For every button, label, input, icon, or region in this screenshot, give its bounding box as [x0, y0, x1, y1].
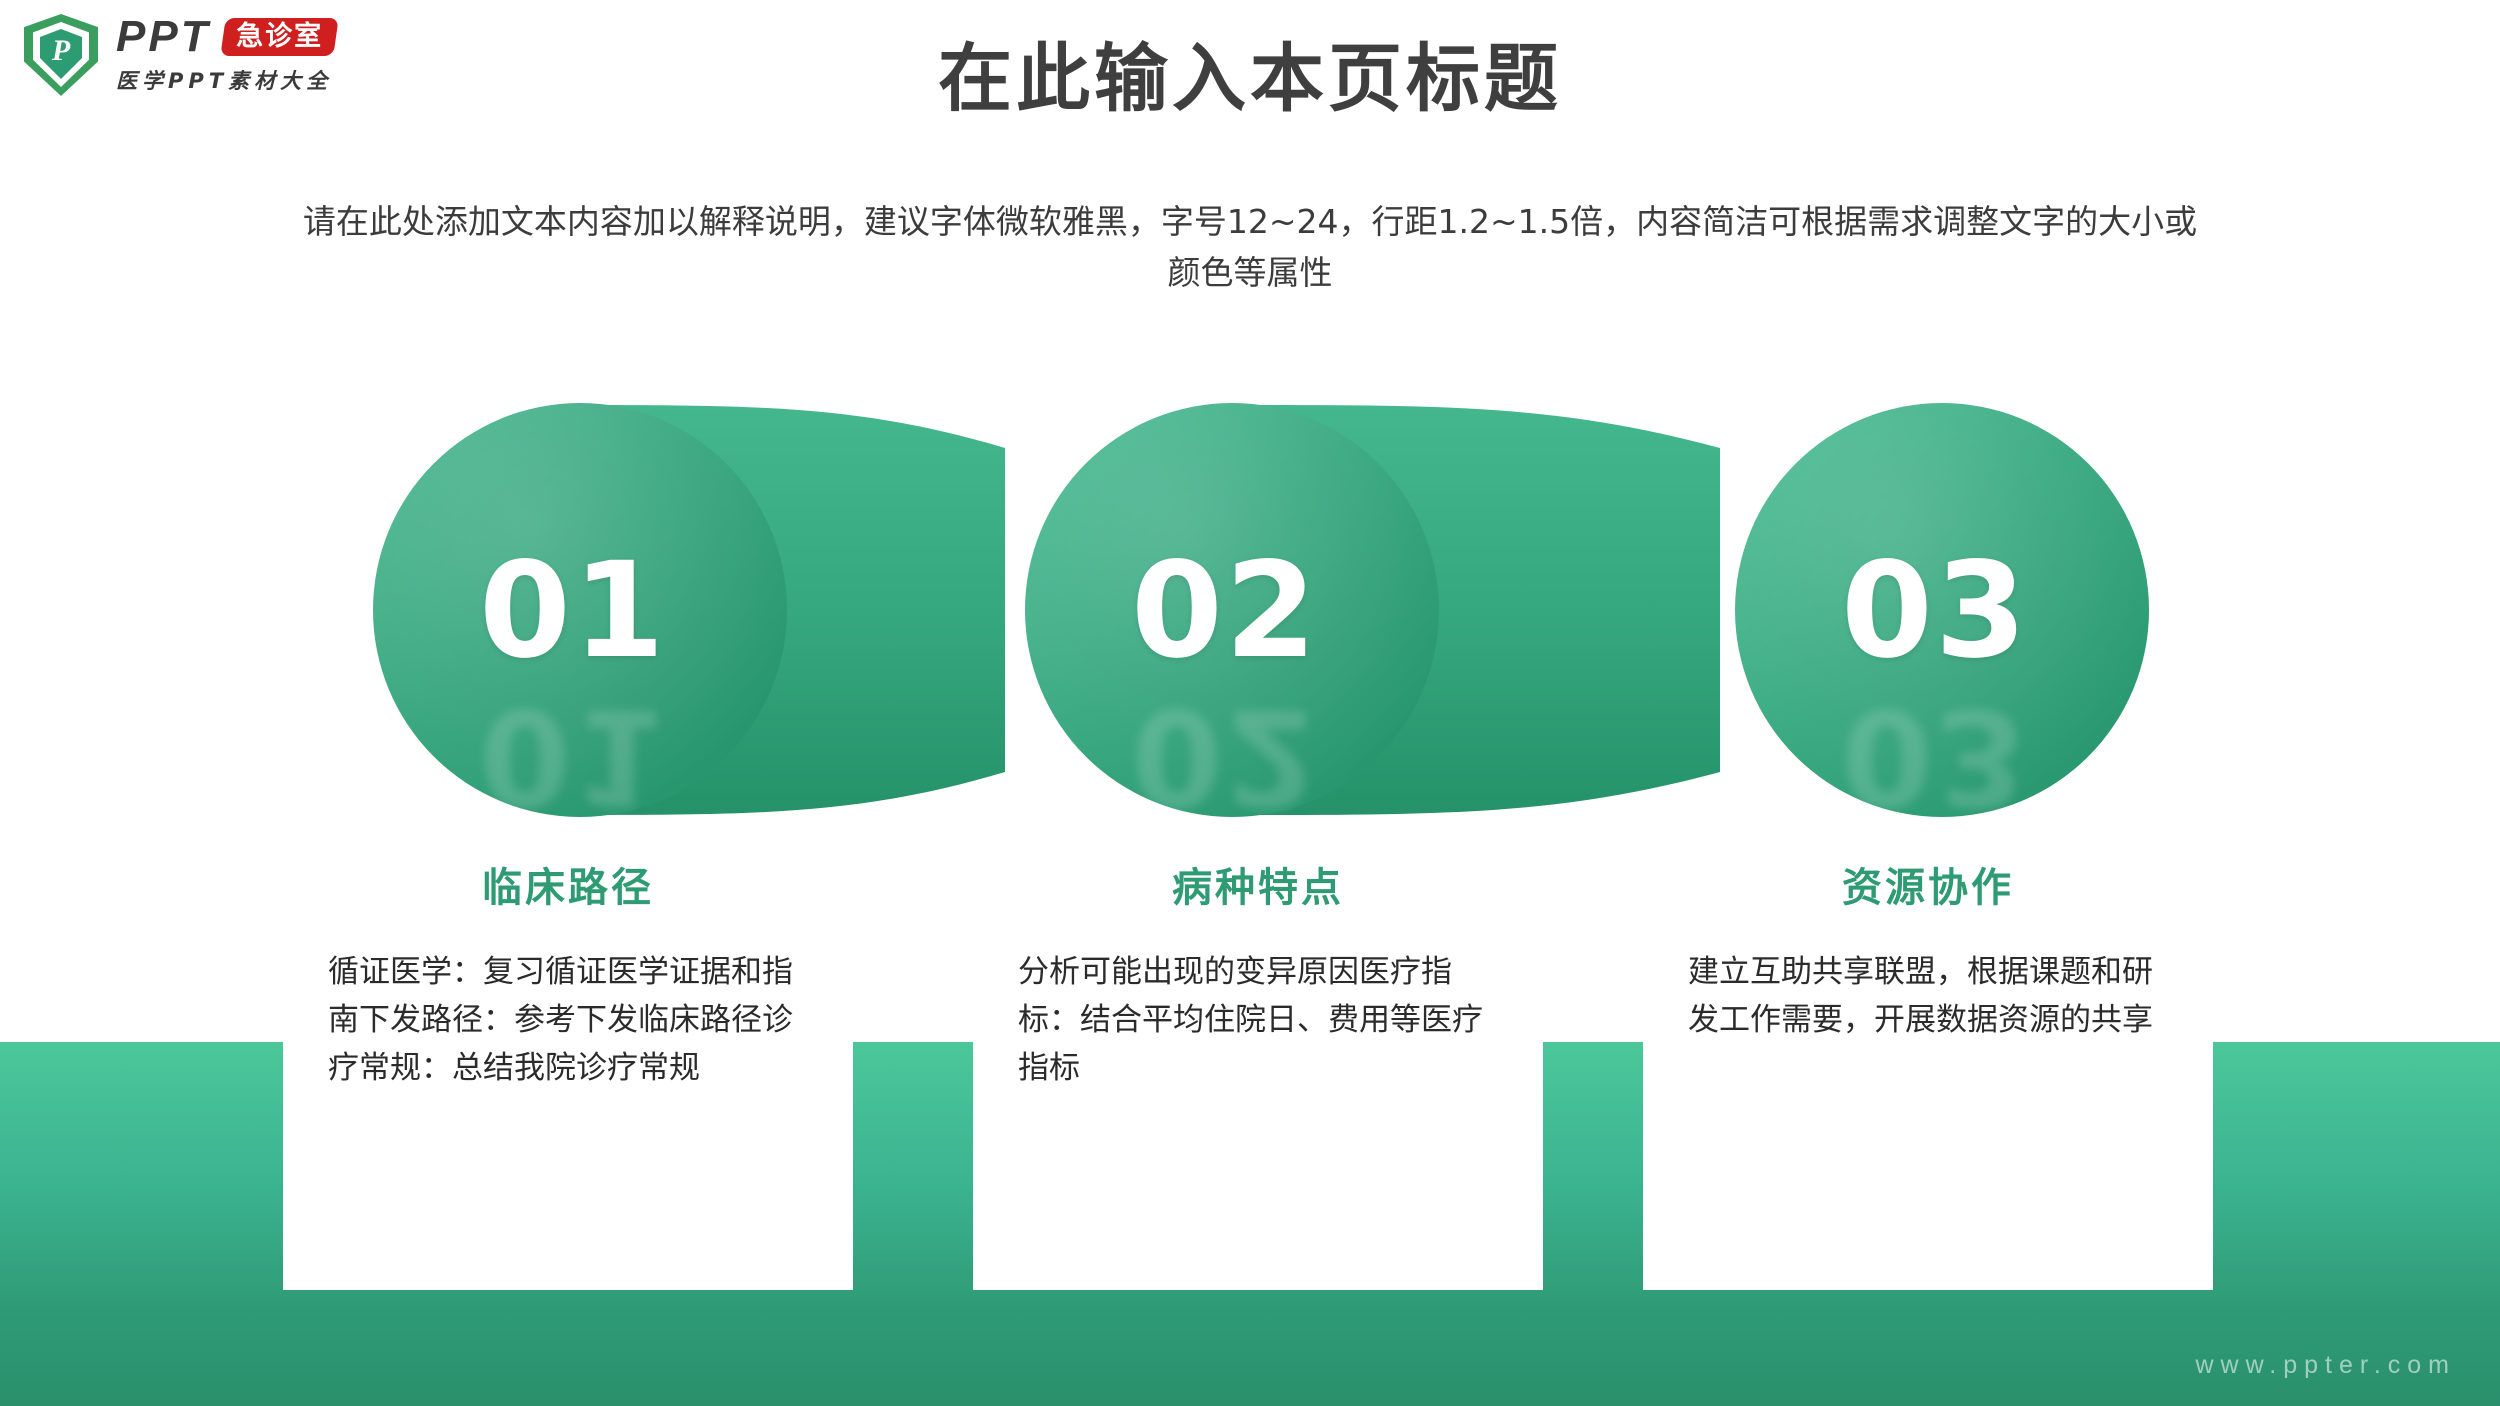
step-number-02: 02 — [1131, 545, 1319, 677]
step-number-02-reflection: 02 — [1131, 690, 1319, 822]
step-circles-graphic: 01 01 02 02 03 03 — [0, 0, 2500, 900]
step-card-02-title: 病种特点 — [973, 820, 1543, 908]
step-number-03-reflection: 03 — [1841, 690, 2029, 822]
step-card-02-body: 分析可能出现的变异原因医疗指标：结合平均住院日、费用等医疗指标 — [1018, 948, 1498, 1092]
step-number-01: 01 — [479, 545, 667, 677]
step-card-01-title: 临床路径 — [283, 820, 853, 908]
watermark-text: www.ppter.com — [2195, 1351, 2456, 1380]
step-card-03[interactable]: 资源协作 建立互助共享联盟，根据课题和研发工作需要，开展数据资源的共享 — [1643, 820, 2213, 1290]
step-card-03-body: 建立互助共享联盟，根据课题和研发工作需要，开展数据资源的共享 — [1688, 948, 2168, 1044]
step-card-02[interactable]: 病种特点 分析可能出现的变异原因医疗指标：结合平均住院日、费用等医疗指标 — [973, 820, 1543, 1290]
step-card-01[interactable]: 临床路径 循证医学：复习循证医学证据和指南下发路径：参考下发临床路径诊疗常规：总… — [283, 820, 853, 1290]
step-number-03: 03 — [1841, 545, 2029, 677]
step-number-01-reflection: 01 — [479, 690, 667, 822]
step-card-03-title: 资源协作 — [1643, 820, 2213, 908]
slide-canvas: P PPT 急诊室 医学PPT素材大全 在此输入本页标题 请在此处添加文本内容加… — [0, 0, 2500, 1406]
step-card-01-body: 循证医学：复习循证医学证据和指南下发路径：参考下发临床路径诊疗常规：总结我院诊疗… — [328, 948, 808, 1092]
